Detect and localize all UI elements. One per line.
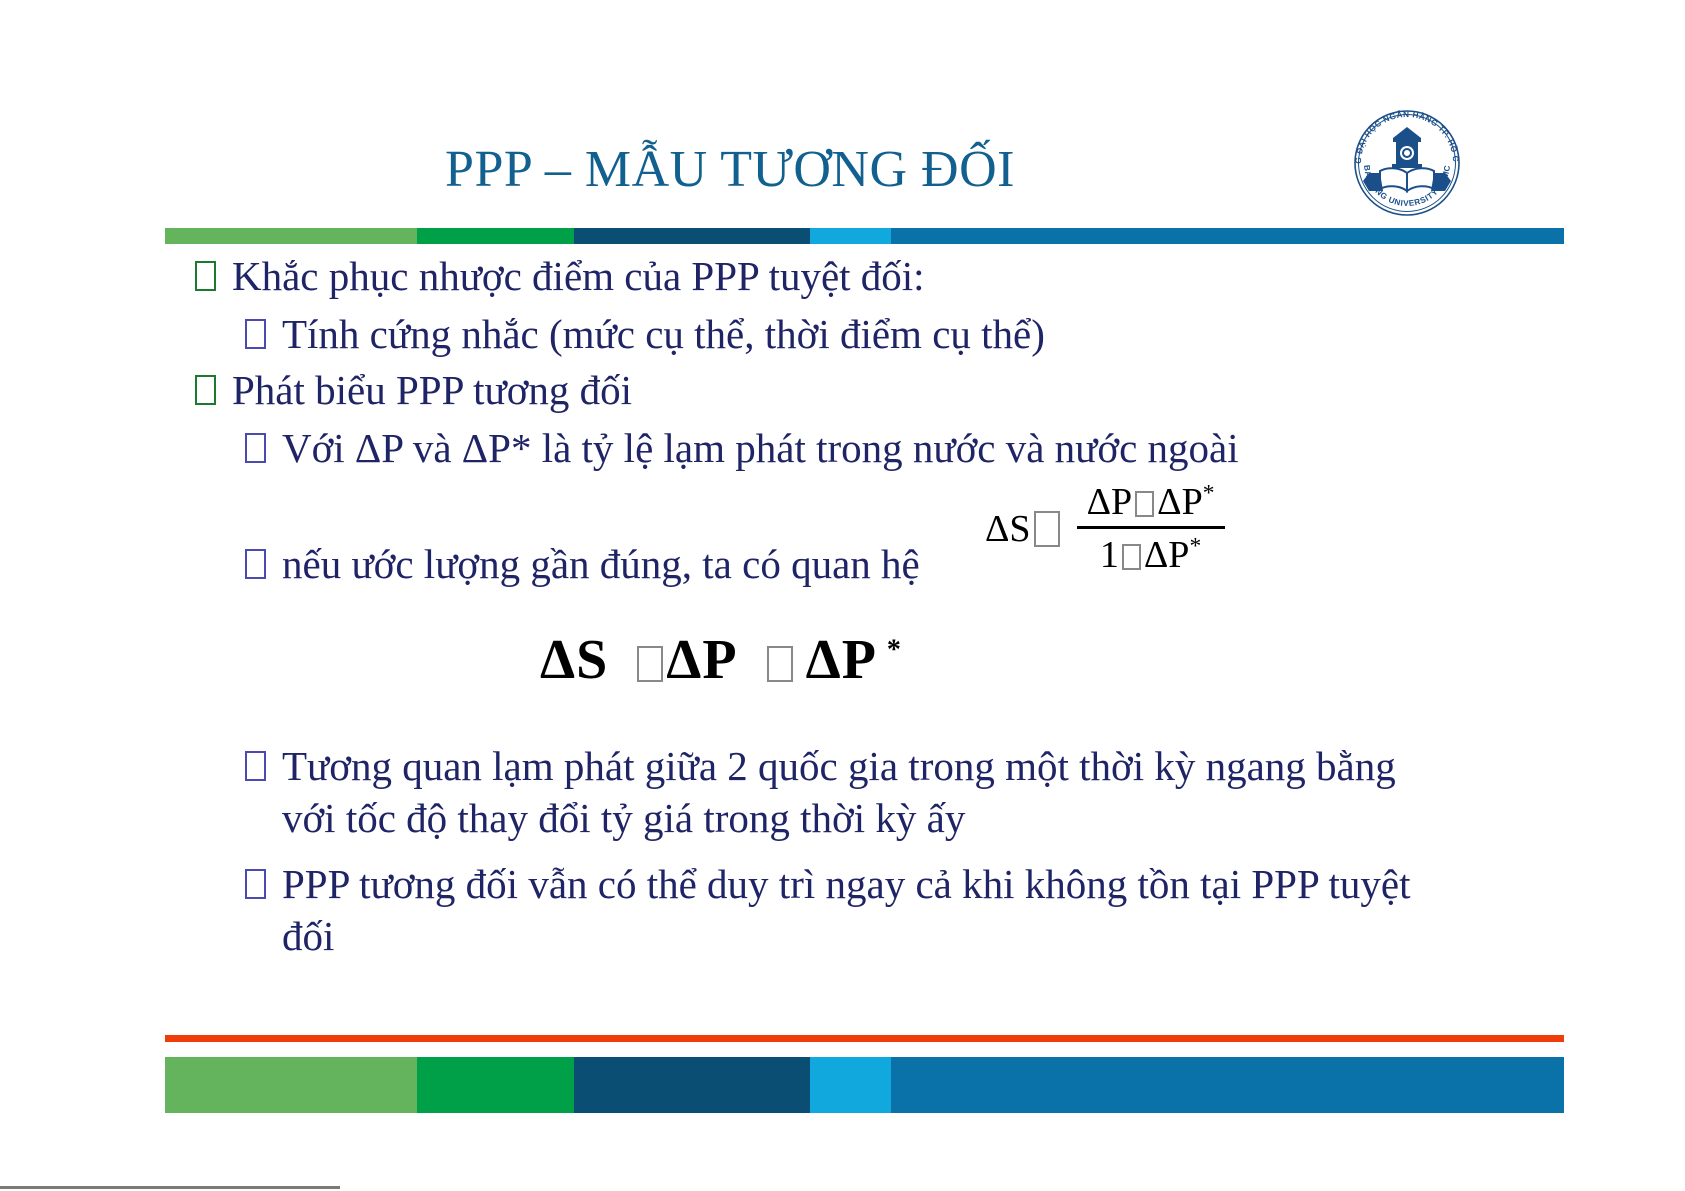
bar-segment-navy bbox=[574, 228, 810, 244]
bar-segment-blue bbox=[891, 228, 1564, 244]
bullet-line-1-text: Khắc phục nhược điểm của PPP tuyệt đối: bbox=[232, 250, 925, 302]
fraction-lhs: ΔS bbox=[985, 507, 1031, 551]
denominator-term-b: ΔP bbox=[1144, 534, 1190, 576]
bar-segment-cyan bbox=[810, 1057, 891, 1113]
slide-canvas: PPP – MẪU TƯƠNG ĐỐI TRƯỜNG ĐẠI HỌC NGÂN … bbox=[0, 0, 1685, 1191]
bullet-square-icon bbox=[195, 375, 216, 405]
bar-segment-navy bbox=[574, 1057, 810, 1113]
page-title: PPP – MẪU TƯƠNG ĐỐI bbox=[445, 143, 1015, 198]
numerator-term-a: ΔP bbox=[1087, 481, 1133, 523]
footer-red-rule bbox=[165, 1035, 1564, 1042]
bottom-edge-artifact bbox=[0, 1186, 340, 1189]
bullet-line-7-text: PPP tương đối vẫn có thể duy trì ngay cả… bbox=[282, 858, 1425, 963]
title-area: PPP – MẪU TƯƠNG ĐỐI bbox=[165, 130, 1295, 210]
bullet-square-icon bbox=[245, 319, 266, 349]
bullet-square-icon bbox=[245, 549, 266, 579]
main-formula-term-1: ΔP bbox=[666, 629, 737, 691]
bullet-square-icon bbox=[245, 433, 266, 463]
bar-segment-green bbox=[417, 1057, 574, 1113]
main-formula-lhs: ΔS bbox=[540, 629, 608, 691]
main-formula: ΔSΔPΔP* bbox=[540, 628, 902, 692]
missing-glyph-box-icon bbox=[1034, 511, 1060, 547]
bar-segment-green bbox=[417, 228, 574, 244]
bar-segment-light-green bbox=[165, 1057, 417, 1113]
bullet-line-7: PPP tương đối vẫn có thể duy trì ngay cả… bbox=[245, 858, 1425, 963]
bar-segment-cyan bbox=[810, 228, 891, 244]
bullet-line-6-text: Tương quan lạm phát giữa 2 quốc gia tron… bbox=[282, 740, 1425, 845]
fraction-denominator: 1ΔP* bbox=[1090, 529, 1211, 577]
denominator-term-a: 1 bbox=[1100, 534, 1119, 576]
bullet-line-3: Phát biểu PPP tương đối bbox=[195, 364, 632, 416]
fraction-formula: ΔS ΔPΔP* 1ΔP* bbox=[985, 480, 1225, 577]
bullet-line-4-text: Với ΔP và ΔP* là tỷ lệ lạm phát trong nư… bbox=[282, 422, 1239, 474]
bar-segment-blue bbox=[891, 1057, 1564, 1113]
main-formula-term-2: ΔP bbox=[806, 629, 877, 691]
numerator-term-b: ΔP bbox=[1157, 481, 1203, 523]
bullet-square-icon bbox=[195, 261, 216, 291]
missing-glyph-box-icon bbox=[637, 646, 663, 682]
university-logo: TRƯỜNG ĐẠI HỌC NGÂN HÀNG TP. HỒ CHÍ MINH… bbox=[1347, 103, 1467, 223]
bullet-line-1: Khắc phục nhược điểm của PPP tuyệt đối: bbox=[195, 250, 925, 302]
numerator-superscript: * bbox=[1203, 480, 1215, 506]
bullet-line-3-text: Phát biểu PPP tương đối bbox=[232, 364, 632, 416]
missing-glyph-box-icon bbox=[1135, 491, 1154, 517]
bullet-line-5: nếu ước lượng gần đúng, ta có quan hệ bbox=[245, 538, 920, 590]
bullet-line-4: Với ΔP và ΔP* là tỷ lệ lạm phát trong nư… bbox=[245, 422, 1239, 474]
bullet-line-5-text: nếu ước lượng gần đúng, ta có quan hệ bbox=[282, 538, 920, 590]
bullet-square-icon bbox=[245, 869, 266, 899]
fraction-numerator: ΔPΔP* bbox=[1077, 480, 1225, 529]
bullet-line-2: Tính cứng nhắc (mức cụ thể, thời điểm cụ… bbox=[245, 308, 1045, 360]
missing-glyph-box-icon bbox=[1122, 544, 1141, 570]
bullet-line-6: Tương quan lạm phát giữa 2 quốc gia tron… bbox=[245, 740, 1425, 845]
main-formula-superscript: * bbox=[887, 634, 902, 665]
bullet-square-icon bbox=[245, 751, 266, 781]
bar-segment-light-green bbox=[165, 228, 417, 244]
denominator-superscript: * bbox=[1189, 533, 1201, 559]
fraction: ΔPΔP* 1ΔP* bbox=[1077, 480, 1225, 577]
missing-glyph-box-icon bbox=[767, 646, 793, 682]
footer-color-bar bbox=[165, 1057, 1564, 1113]
header-color-bar bbox=[165, 228, 1564, 244]
bullet-line-2-text: Tính cứng nhắc (mức cụ thể, thời điểm cụ… bbox=[282, 308, 1045, 360]
